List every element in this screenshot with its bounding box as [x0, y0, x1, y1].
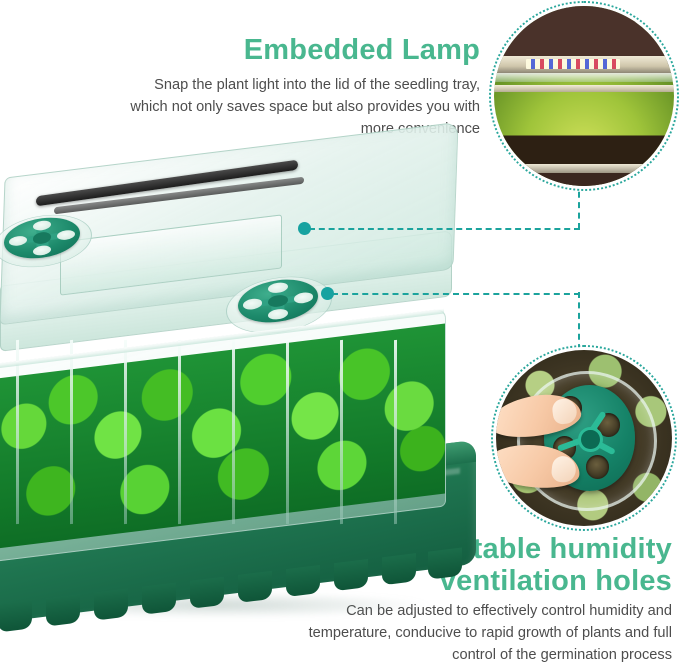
connector-vent-horizontal: [332, 293, 580, 295]
led-lower-rail: [494, 85, 674, 92]
tray-foot: [94, 589, 128, 621]
vent-hub: [268, 294, 287, 308]
tray-foot: [190, 577, 224, 609]
tray-foot: [286, 565, 320, 597]
infographic-canvas: Embedded Lamp Snap the plant light into …: [0, 0, 679, 665]
shelf-edge: [494, 164, 674, 173]
callout-dot-lamp[interactable]: [298, 222, 311, 235]
tray-foot: [334, 559, 368, 591]
led-diodes: [526, 59, 620, 69]
cell-divider: [232, 340, 235, 524]
vent-hole: [294, 292, 313, 304]
vent-hub: [578, 427, 602, 452]
cell-divider: [286, 340, 289, 524]
cell-divider: [394, 340, 397, 524]
tray-foot: [238, 571, 272, 603]
vent-hole: [57, 229, 75, 241]
vent-inset-photo: [496, 350, 672, 526]
vent-hole: [586, 455, 610, 479]
lamp-inset-photo: [494, 6, 674, 186]
connector-lamp-horizontal: [309, 228, 580, 230]
cell-divider: [16, 340, 19, 524]
tray-foot: [142, 583, 176, 615]
cell-divider: [340, 340, 343, 524]
tray-foot: [428, 548, 462, 580]
led-diffuser: [494, 73, 674, 82]
cell-divider: [124, 340, 127, 524]
background-floor: [494, 173, 674, 186]
cell-divider: [178, 340, 181, 524]
feature-title-embedded-lamp: Embedded Lamp: [130, 34, 480, 66]
cell-divider: [70, 340, 73, 524]
product-photo: [0, 140, 470, 598]
vent-scene: [496, 350, 672, 526]
vent-hole: [243, 298, 262, 310]
vent-hole: [33, 245, 51, 257]
tray-foot: [0, 600, 32, 632]
fingernail: [551, 397, 578, 425]
vent-hole: [268, 308, 287, 320]
callout-dot-vent[interactable]: [321, 287, 334, 300]
vent-hole: [268, 282, 287, 294]
tray-foot: [382, 553, 416, 585]
vent-hole: [9, 235, 27, 247]
lamp-scene: [494, 6, 674, 186]
tray-foot: [46, 594, 80, 626]
